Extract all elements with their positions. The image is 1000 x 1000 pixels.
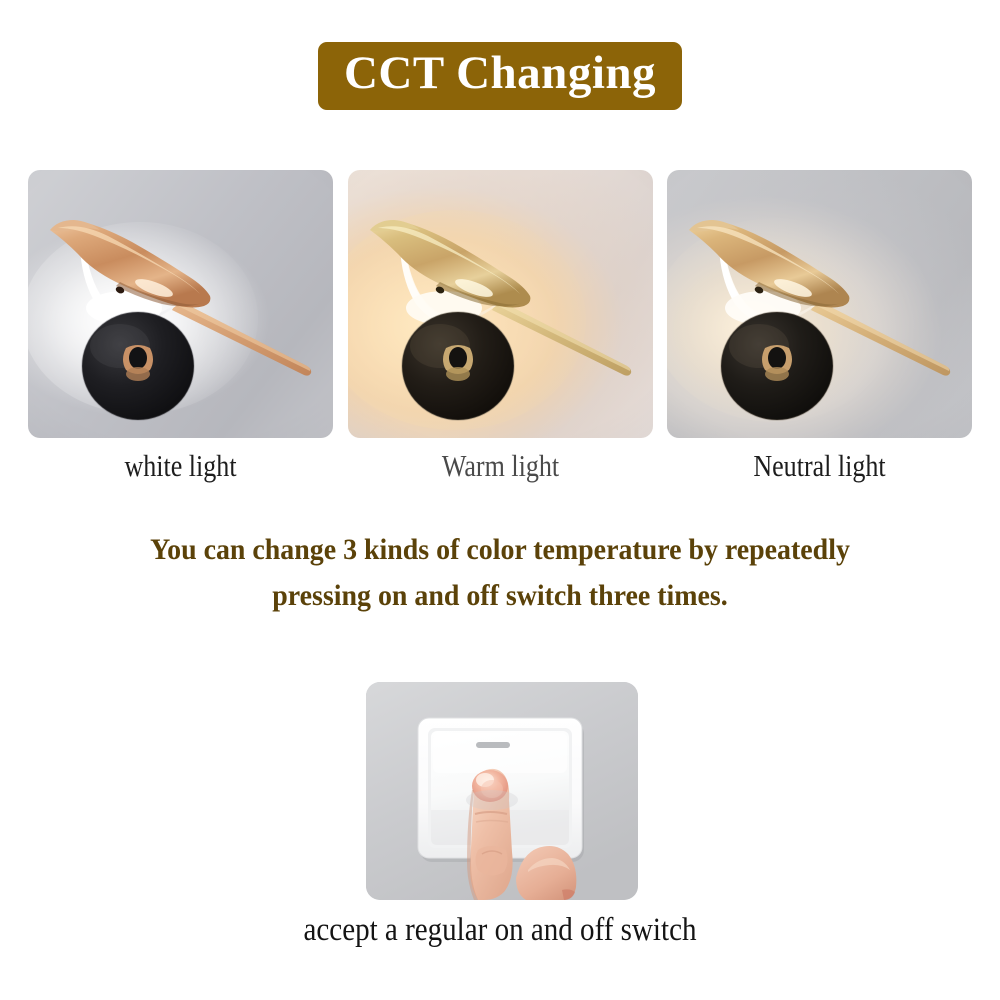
description-text: You can change 3 kinds of color temperat… xyxy=(0,527,1000,619)
variant-card-neutral-light[interactable] xyxy=(667,170,972,438)
wall-switch-photo[interactable] xyxy=(366,682,638,900)
card-vignette xyxy=(28,170,333,438)
page-title: CCT Changing xyxy=(344,50,656,98)
description-line-2: pressing on and off switch three times. xyxy=(35,573,965,619)
caption-white-light: white light xyxy=(52,448,308,492)
description-line-1: You can change 3 kinds of color temperat… xyxy=(35,527,965,573)
switch-caption: accept a regular on and off switch xyxy=(60,912,940,949)
variant-caption-row: white light Warm light Neutral light xyxy=(28,448,972,492)
page-title-wrap: CCT Changing xyxy=(0,42,1000,110)
caption-warm-light: Warm light xyxy=(372,448,628,492)
title-banner: CCT Changing xyxy=(318,42,682,110)
card-vignette xyxy=(667,170,972,438)
caption-neutral-light: Neutral light xyxy=(691,448,947,492)
variant-card-white-light[interactable] xyxy=(28,170,333,438)
variant-card-row xyxy=(28,170,972,438)
variant-card-warm-light[interactable] xyxy=(348,170,653,438)
card-vignette xyxy=(348,170,653,438)
